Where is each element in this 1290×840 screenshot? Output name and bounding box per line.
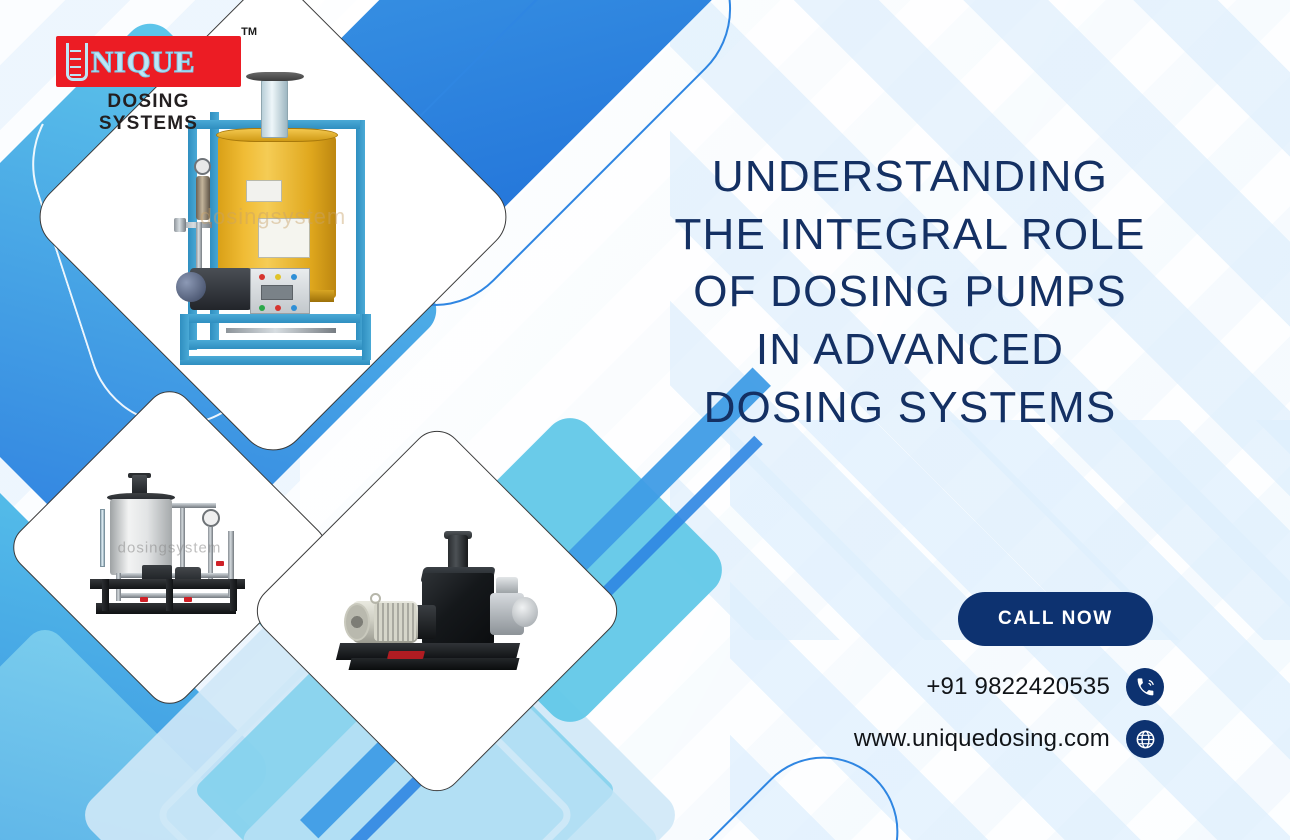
headline-line-1: UNDERSTANDING (620, 148, 1200, 206)
phone-number: +91 9822420535 (926, 673, 1110, 701)
logo-mark: NIQUE TM (56, 36, 241, 87)
call-now-button[interactable]: CALL NOW (958, 592, 1153, 646)
logo-wordmark: NIQUE (91, 46, 195, 77)
page-title: UNDERSTANDING THE INTEGRAL ROLE OF DOSIN… (620, 148, 1200, 436)
globe-icon[interactable] (1126, 720, 1164, 758)
headline-line-2: THE INTEGRAL ROLE (620, 206, 1200, 264)
website-url: www.uniquedosing.com (854, 725, 1110, 753)
content-panel: UNDERSTANDING THE INTEGRAL ROLE OF DOSIN… (620, 0, 1220, 840)
headline-line-3: OF DOSING PUMPS (620, 263, 1200, 321)
headline-line-4: IN ADVANCED (620, 321, 1200, 379)
logo-subtitle: DOSING SYSTEMS (56, 91, 241, 135)
headline-line-5: DOSING SYSTEMS (620, 379, 1200, 437)
marketing-banner: NIQUE TM DOSING SYSTEMS (0, 0, 1290, 840)
company-logo[interactable]: NIQUE TM DOSING SYSTEMS (56, 36, 241, 135)
trademark-symbol: TM (241, 26, 257, 38)
product-image-white-tank-skid (79, 473, 259, 623)
phone-icon[interactable] (1126, 668, 1164, 706)
product-image-plunger-pump (330, 531, 545, 691)
beaker-icon (64, 41, 90, 81)
website-contact-row[interactable]: www.uniquedosing.com (644, 720, 1164, 758)
phone-contact-row[interactable]: +91 9822420535 (644, 668, 1164, 706)
